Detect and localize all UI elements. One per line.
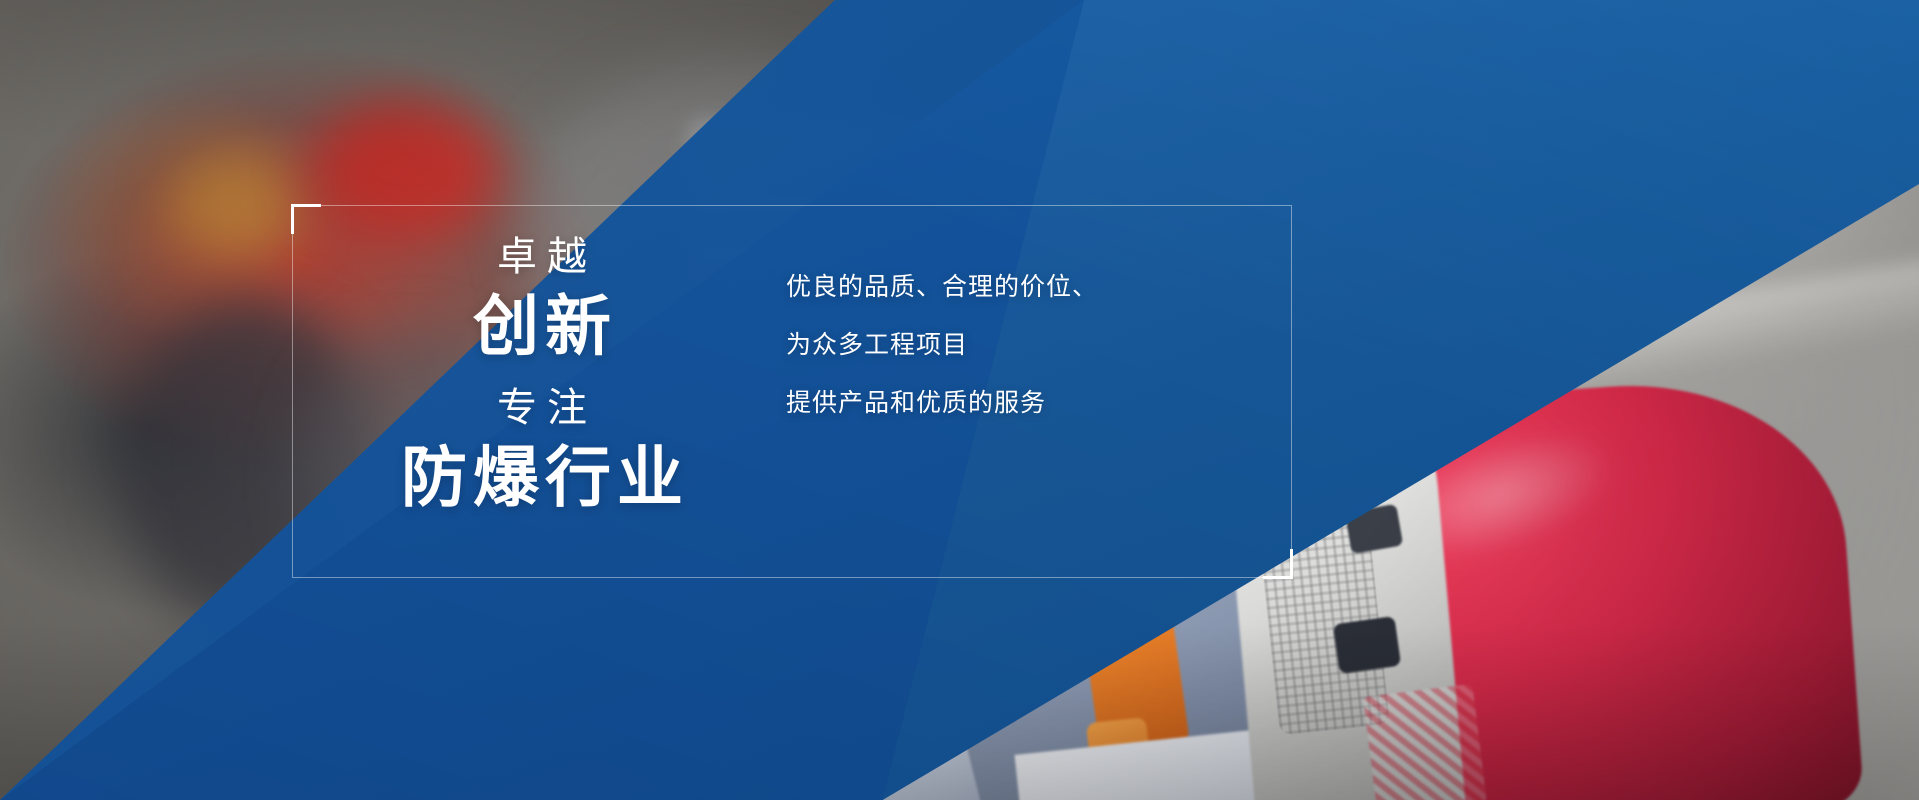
headline-line-2: 创新 bbox=[292, 286, 792, 367]
tagline-line-2: 为众多工程项目 bbox=[786, 316, 1098, 374]
headline-block: 卓越 创新 专注 防爆行业 bbox=[292, 230, 792, 517]
tagline-line-1: 优良的品质、合理的价位、 bbox=[786, 258, 1098, 316]
tagline-line-3: 提供产品和优质的服务 bbox=[786, 374, 1098, 432]
headline-line-1: 卓越 bbox=[292, 230, 792, 284]
tagline-paragraph: 优良的品质、合理的价位、 为众多工程项目 提供产品和优质的服务 bbox=[786, 258, 1098, 432]
headline-line-4: 防爆行业 bbox=[292, 437, 792, 518]
headline-line-3: 专注 bbox=[292, 381, 792, 435]
hero-banner: 卓越 创新 专注 防爆行业 优良的品质、合理的价位、 为众多工程项目 提供产品和… bbox=[0, 0, 1919, 800]
